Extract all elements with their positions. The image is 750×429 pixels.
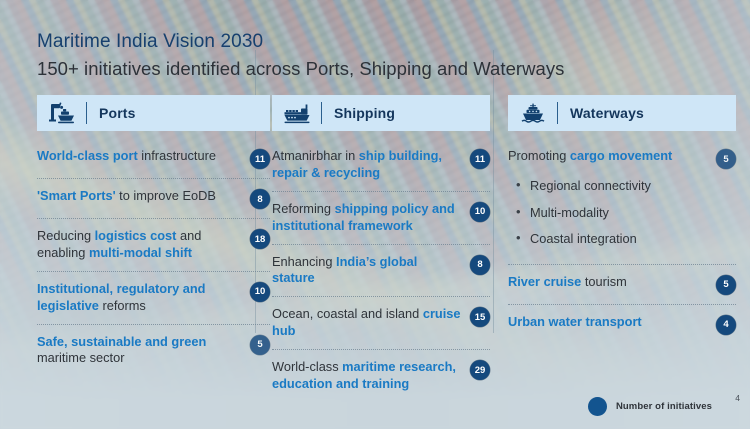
items-ports: World-class port infrastructure11'Smart … <box>37 139 270 376</box>
initiative-text: Enhancing India’s global stature <box>272 254 470 288</box>
initiative-item: 'Smart Ports' to improve EoDB8 <box>37 178 270 218</box>
port-crane-ship-icon <box>47 100 77 126</box>
initiative-sub-item: Coastal integration <box>508 226 736 253</box>
ferry-boat-icon <box>518 100 548 126</box>
initiative-count-badge: 11 <box>250 149 270 169</box>
column-header-ports: Ports <box>37 95 270 131</box>
initiative-count-badge: 4 <box>716 315 736 335</box>
column-ports: Ports World-class port infrastructure11'… <box>37 95 270 376</box>
items-shipping: Atmanirbhar in ship building, repair & r… <box>272 139 490 402</box>
initiative-text: Ocean, coastal and island cruise hub <box>272 306 470 340</box>
initiative-count-badge: 8 <box>250 189 270 209</box>
column-shipping: Shipping Atmanirbhar in ship building, r… <box>272 95 490 402</box>
page-subtitle: 150+ initiatives identified across Ports… <box>37 57 564 81</box>
title-block: Maritime India Vision 2030 150+ initiati… <box>37 30 564 81</box>
initiative-item: Atmanirbhar in ship building, repair & r… <box>272 139 490 191</box>
header-separator <box>321 102 322 124</box>
initiative-item: Promoting cargo movement5Regional connec… <box>508 139 736 264</box>
initiative-text: Safe, sustainable and green maritime sec… <box>37 334 250 368</box>
initiative-count-badge: 29 <box>470 360 490 380</box>
initiative-count-badge: 10 <box>250 282 270 302</box>
initiative-count-badge: 11 <box>470 149 490 169</box>
initiative-item: Reducing logistics cost and enabling mul… <box>37 218 270 271</box>
initiative-count-badge: 15 <box>470 307 490 327</box>
column-header-shipping: Shipping <box>272 95 490 131</box>
column-waterways: Waterways Promoting cargo movement5Regio… <box>508 95 736 344</box>
initiative-text: Atmanirbhar in ship building, repair & r… <box>272 148 470 182</box>
initiative-count-badge: 8 <box>470 255 490 275</box>
initiative-count-badge: 5 <box>716 149 736 169</box>
initiative-item: Reforming shipping policy and institutio… <box>272 191 490 244</box>
initiative-text: World-class maritime research, education… <box>272 359 470 393</box>
initiative-text: River cruise tourism <box>508 274 716 291</box>
initiative-item: Safe, sustainable and green maritime sec… <box>37 324 270 377</box>
legend-badge-dot <box>588 397 607 416</box>
legend: Number of initiatives <box>588 397 712 416</box>
initiative-sub-item: Regional connectivity <box>508 173 736 200</box>
header-separator <box>557 102 558 124</box>
column-title-ports: Ports <box>99 105 136 121</box>
initiative-count-badge: 18 <box>250 229 270 249</box>
cargo-ship-icon <box>282 100 312 126</box>
initiative-text: Reforming shipping policy and institutio… <box>272 201 470 235</box>
initiative-sub-item: Multi-modality <box>508 200 736 227</box>
initiative-item: Institutional, regulatory and legislativ… <box>37 271 270 324</box>
initiative-count-badge: 5 <box>716 275 736 295</box>
initiative-text: Urban water transport <box>508 314 716 331</box>
header-separator <box>86 102 87 124</box>
initiative-item: Ocean, coastal and island cruise hub15 <box>272 296 490 349</box>
initiative-text: World-class port infrastructure <box>37 148 250 165</box>
initiative-text: 'Smart Ports' to improve EoDB <box>37 188 250 205</box>
initiative-item: World-class maritime research, education… <box>272 349 490 402</box>
column-title-shipping: Shipping <box>334 105 395 121</box>
initiative-count-badge: 10 <box>470 202 490 222</box>
page-number: 4 <box>735 393 740 403</box>
initiative-item: River cruise tourism5 <box>508 264 736 304</box>
initiative-count-badge: 5 <box>250 335 270 355</box>
initiative-item: Urban water transport4 <box>508 304 736 344</box>
column-title-waterways: Waterways <box>570 105 644 121</box>
page-title: Maritime India Vision 2030 <box>37 30 564 54</box>
initiative-item: World-class port infrastructure11 <box>37 139 270 178</box>
column-divider-2 <box>493 50 494 333</box>
slide-canvas: Maritime India Vision 2030 150+ initiati… <box>0 0 750 429</box>
column-header-waterways: Waterways <box>508 95 736 131</box>
items-waterways: Promoting cargo movement5Regional connec… <box>508 139 736 344</box>
initiative-head-row: Promoting cargo movement5 <box>508 148 736 169</box>
initiative-text: Promoting cargo movement <box>508 148 716 165</box>
legend-label: Number of initiatives <box>616 401 712 412</box>
initiative-item: Enhancing India’s global stature8 <box>272 244 490 297</box>
initiative-sub-list: Regional connectivityMulti-modalityCoast… <box>508 173 736 253</box>
initiative-text: Reducing logistics cost and enabling mul… <box>37 228 250 262</box>
initiative-text: Institutional, regulatory and legislativ… <box>37 281 250 315</box>
